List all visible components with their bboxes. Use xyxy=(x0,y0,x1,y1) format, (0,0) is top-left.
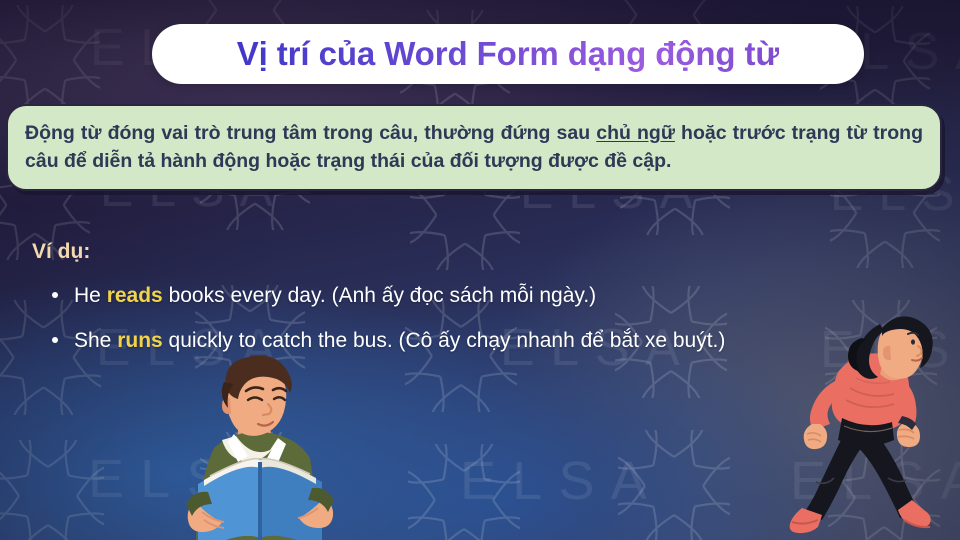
page-title: Vị trí của Word Form dạng động từ xyxy=(237,35,779,73)
woman-running-illustration xyxy=(786,312,956,540)
title-pill: Vị trí của Word Form dạng động từ xyxy=(152,24,864,84)
bullet-icon xyxy=(52,292,58,298)
example-text-after: books every day. (Anh ấy đọc sách mỗi ng… xyxy=(163,284,596,307)
bullet-icon xyxy=(52,337,58,343)
example-text-after: quickly to catch the bus. (Cô ấy chạy nh… xyxy=(163,329,726,352)
example-verb: runs xyxy=(117,329,163,352)
definition-part-1: Động từ đóng vai trò trung tâm trong câu… xyxy=(25,122,596,144)
definition-box: Động từ đóng vai trò trung tâm trong câu… xyxy=(6,104,942,191)
slide-root: ELSAELSAELSAELSAELSAELSAELSAELSAELSAELSA… xyxy=(0,0,960,540)
example-text-before: She xyxy=(74,329,117,352)
definition-text: Động từ đóng vai trò trung tâm trong câu… xyxy=(25,120,923,175)
example-verb: reads xyxy=(107,284,163,307)
list-item: He reads books every day. (Anh ấy đọc sá… xyxy=(44,280,864,313)
example-text-before: He xyxy=(74,284,107,307)
definition-emphasis: chủ ngữ xyxy=(596,122,675,144)
man-reading-book-illustration xyxy=(152,352,352,540)
examples-heading: Ví dụ: xyxy=(32,240,90,264)
